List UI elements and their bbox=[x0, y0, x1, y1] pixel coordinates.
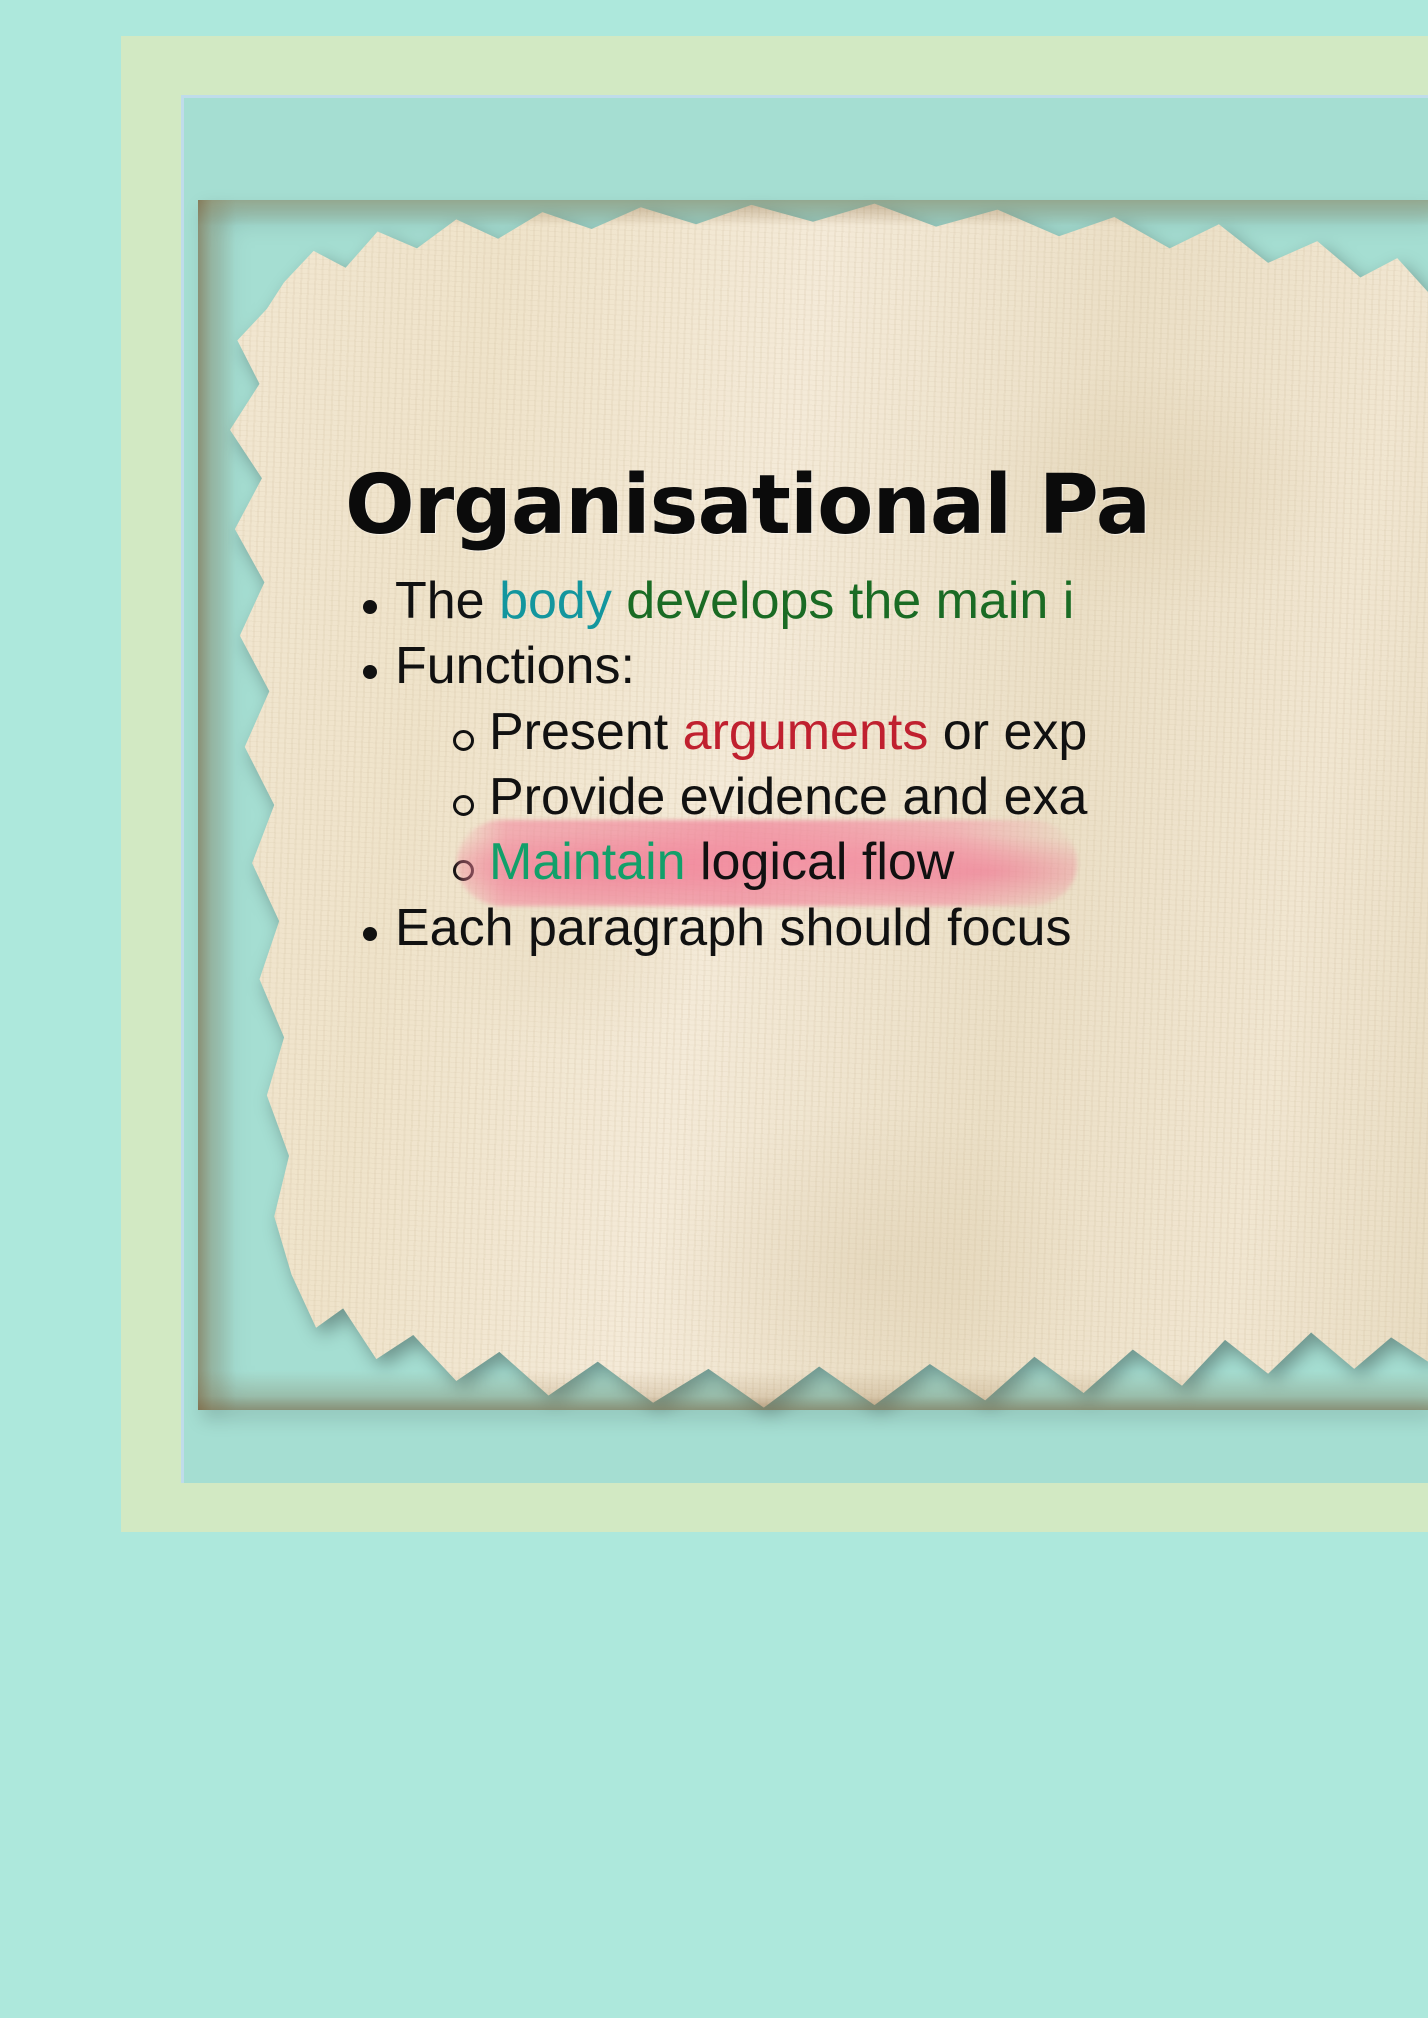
text-run: Present bbox=[489, 703, 683, 761]
sub-bullet-group: Present arguments or exp Provide evidenc… bbox=[345, 702, 1428, 894]
bullet-list-level-1: The body develops the main i Functions: … bbox=[345, 571, 1428, 959]
highlighted-text: Maintain logical flow bbox=[489, 833, 954, 891]
text-run-red-arguments: arguments bbox=[683, 703, 943, 761]
text-run-highlight-body: body bbox=[499, 572, 626, 630]
list-item: Functions: bbox=[345, 636, 1428, 697]
text-run: Provide evidence and exa bbox=[489, 768, 1087, 826]
list-item: Present arguments or exp bbox=[437, 702, 1428, 763]
list-item: Provide evidence and exa bbox=[437, 767, 1428, 828]
list-item: Each paragraph should focus bbox=[345, 898, 1428, 959]
text-run: Each paragraph should focus bbox=[395, 899, 1071, 957]
slide-content: Organisational Pa The body develops the … bbox=[345, 465, 1428, 963]
bullet-list-level-2: Present arguments or exp Provide evidenc… bbox=[437, 702, 1428, 894]
text-run-emerald-maintain: Maintain bbox=[489, 833, 700, 891]
text-run: or exp bbox=[943, 703, 1088, 761]
text-run-green: develops the main i bbox=[626, 572, 1074, 630]
text-run: The bbox=[395, 572, 499, 630]
text-run: logical flow bbox=[700, 833, 954, 891]
text-run: Functions: bbox=[395, 637, 635, 695]
page-title: Organisational Pa bbox=[345, 465, 1428, 547]
list-item-highlighted: Maintain logical flow bbox=[437, 832, 1428, 893]
list-item: The body develops the main i bbox=[345, 571, 1428, 632]
